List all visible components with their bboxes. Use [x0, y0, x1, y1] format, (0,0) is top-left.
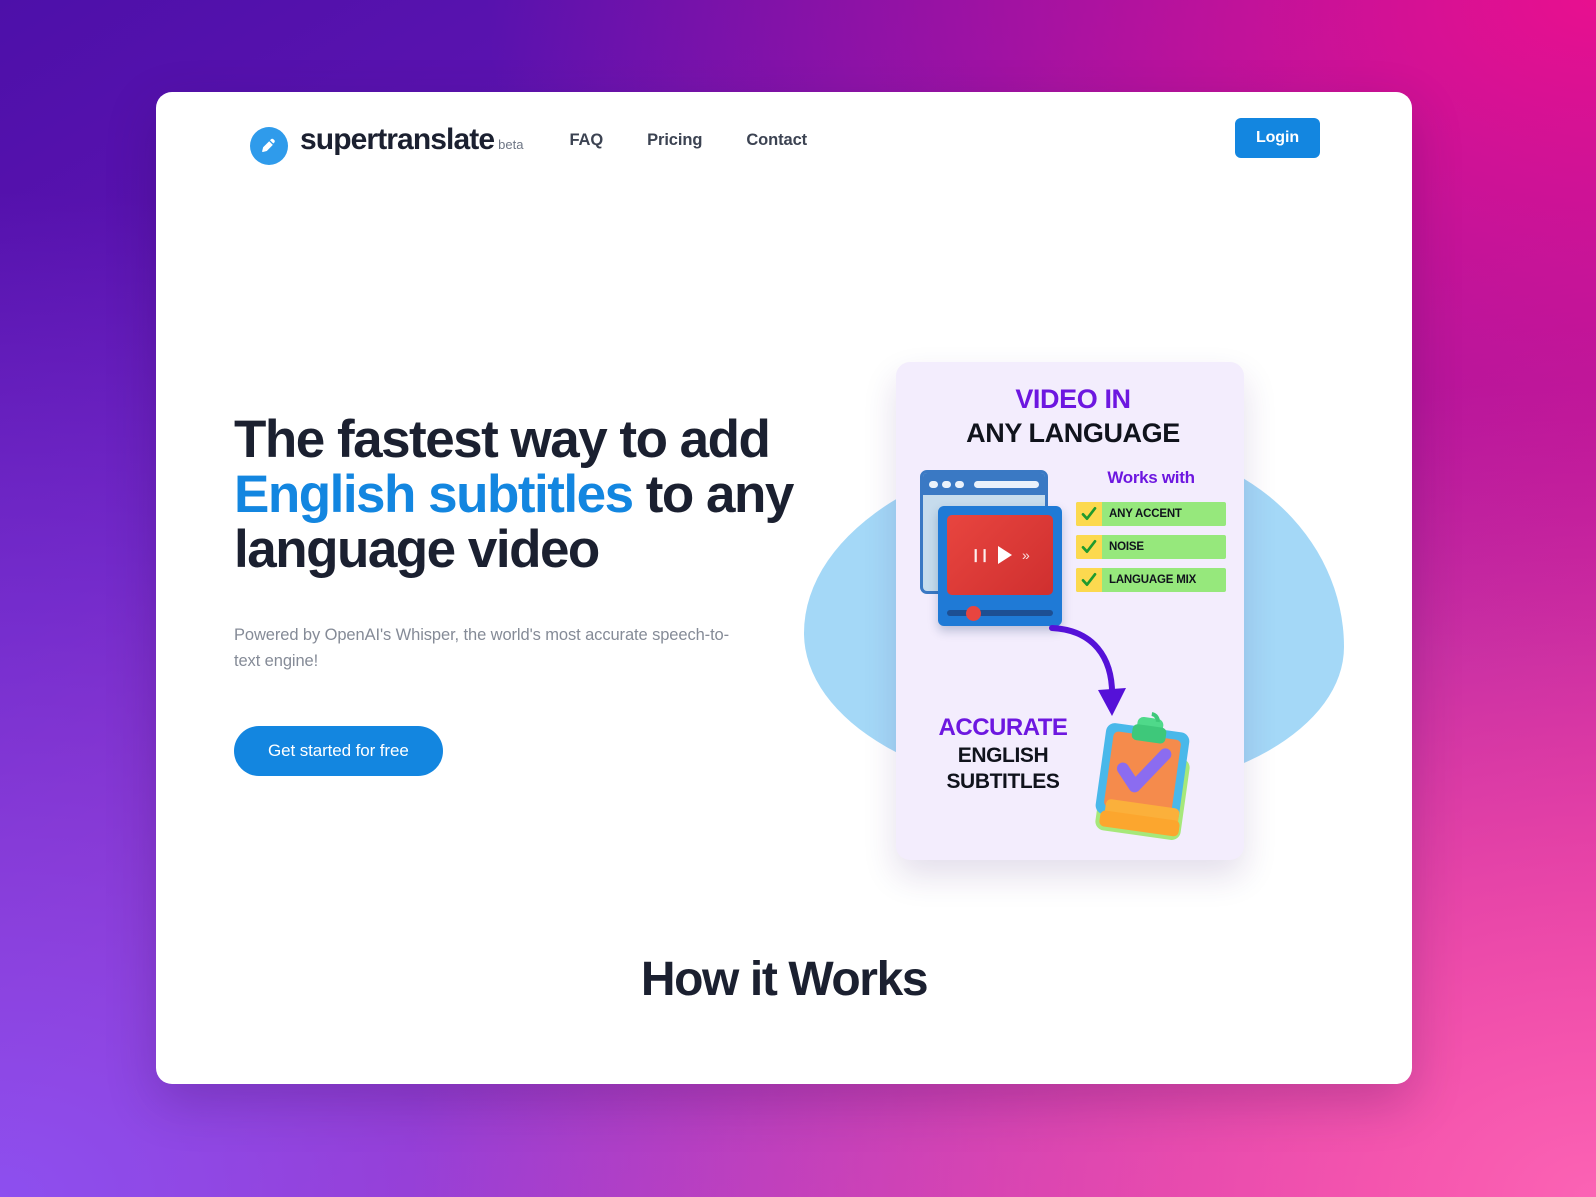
poster-title-line-1: VIDEO IN — [918, 384, 1228, 415]
badge-noise: NOISE — [1076, 535, 1226, 559]
clipboard-check-icon — [1092, 712, 1202, 842]
how-it-works-section: How it Works — [156, 952, 1412, 1007]
video-progress-track — [947, 610, 1053, 616]
headline-line-2-tail: to any — [633, 465, 793, 524]
brand-logo[interactable]: supertranslate beta — [250, 119, 523, 157]
page-card: supertranslate beta FAQ Pricing Contact … — [156, 92, 1412, 1084]
brand-beta-tag: beta — [498, 137, 523, 152]
works-with-title: Works with — [1076, 468, 1226, 488]
pause-icon: ❙❙ — [970, 547, 988, 563]
video-progress-knob — [966, 606, 981, 621]
pencil-icon — [250, 127, 288, 165]
headline-line-3: language video — [234, 520, 599, 579]
poster-foot-line-3: SUBTITLES — [914, 770, 1092, 794]
check-icon — [1076, 535, 1102, 559]
login-button[interactable]: Login — [1235, 118, 1320, 158]
hero-headline: The fastest way to add English subtitles… — [234, 412, 794, 577]
how-it-works-title: How it Works — [156, 952, 1412, 1007]
browser-url-bar — [974, 481, 1039, 488]
headline-accent: English subtitles — [234, 465, 633, 524]
check-icon — [1076, 502, 1102, 526]
poster-title-line-2: ANY LANGUAGE — [918, 418, 1228, 449]
hero-subhead: Powered by OpenAI's Whisper, the world's… — [234, 623, 754, 674]
get-started-button[interactable]: Get started for free — [234, 726, 443, 776]
play-icon — [998, 546, 1012, 564]
badge-language-mix: LANGUAGE MIX — [1076, 568, 1226, 592]
nav-link-contact[interactable]: Contact — [746, 131, 807, 150]
brand-name: supertranslate — [300, 123, 494, 157]
badge-label: LANGUAGE MIX — [1102, 574, 1196, 586]
nav-link-faq[interactable]: FAQ — [569, 131, 603, 150]
video-player-illustration: ❙❙ » — [916, 470, 1064, 630]
hero-section: The fastest way to add English subtitles… — [156, 184, 1412, 974]
badge-label: NOISE — [1102, 541, 1144, 553]
poster-foot-line-2: ENGLISH — [914, 744, 1092, 768]
browser-dot-icon — [955, 481, 964, 488]
poster-card: VIDEO IN ANY LANGUAGE — [896, 362, 1244, 860]
browser-titlebar — [923, 473, 1045, 495]
navbar: supertranslate beta FAQ Pricing Contact … — [156, 92, 1412, 184]
poster-title: VIDEO IN ANY LANGUAGE — [918, 384, 1228, 449]
hero-copy: The fastest way to add English subtitles… — [234, 412, 794, 776]
hero-illustration: VIDEO IN ANY LANGUAGE — [796, 264, 1376, 904]
headline-line-1: The fastest way to add — [234, 410, 769, 469]
badge-label: ANY ACCENT — [1102, 508, 1182, 520]
badge-any-accent: ANY ACCENT — [1076, 502, 1226, 526]
video-screen: ❙❙ » — [947, 515, 1053, 595]
works-with-list: Works with ANY ACCENT — [1076, 468, 1226, 601]
video-window: ❙❙ » — [938, 506, 1062, 626]
poster-foot-line-1: ACCURATE — [914, 714, 1092, 742]
nav-links: FAQ Pricing Contact — [569, 131, 807, 150]
browser-dot-icon — [929, 481, 938, 488]
poster-footer-text: ACCURATE ENGLISH SUBTITLES — [914, 714, 1092, 794]
nav-link-pricing[interactable]: Pricing — [647, 131, 702, 150]
browser-dot-icon — [942, 481, 951, 488]
check-icon — [1076, 568, 1102, 592]
fast-forward-icon: » — [1022, 547, 1030, 563]
